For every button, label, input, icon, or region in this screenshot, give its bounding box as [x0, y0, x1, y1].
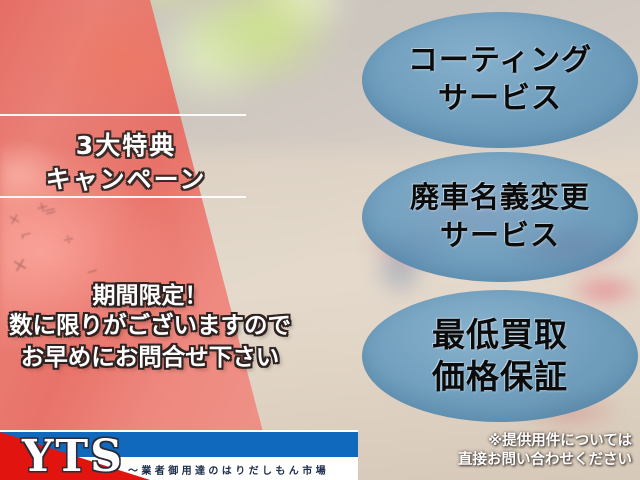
headline-rule-bottom [0, 196, 246, 198]
badge-coating-service: コーティング サービス [362, 12, 638, 148]
badge-coating-line-1: コーティング [408, 42, 592, 80]
badge-scrap-line-2: サービス [440, 217, 560, 255]
badge-scrap-title-transfer-service: 廃車名義変更 サービス [362, 152, 638, 282]
footnote: ※提供用件については 直接お問い合わせください [402, 432, 632, 470]
badge-minimum-purchase-price-guarantee: 最低買取 価格保証 [362, 290, 638, 422]
logo-tagline: 〜業者御用達のはりだしもん市場 [128, 462, 329, 477]
logo-wordmark: YTS [22, 431, 124, 480]
headline-line-2: キャンペーン [0, 160, 252, 196]
badge-guarantee-line-1: 最低買取 [432, 314, 568, 356]
urgency-line-1: 期間限定！ [0, 284, 300, 308]
badge-guarantee-line-2: 価格保証 [432, 356, 568, 398]
headline-line-1: 3大特典 [0, 126, 252, 162]
urgency-line-3: お早めにお問合せ下さい [0, 345, 300, 370]
badge-scrap-line-1: 廃車名義変更 [410, 179, 590, 217]
footnote-line-2: 直接お問い合わせください [402, 451, 632, 470]
yts-logo: YTS 〜業者御用達のはりだしもん市場 [0, 430, 358, 480]
headline-rule-top [0, 114, 246, 116]
badge-coating-line-2: サービス [438, 80, 562, 118]
urgency-line-2: 数に限りがございますので [0, 313, 300, 338]
promo-banner: × + ÷ × − = ⌐ 3大特典 キャンペーン 期間限定！ 数に限りがござい… [0, 0, 640, 480]
footnote-line-1: ※提供用件については [402, 432, 632, 451]
